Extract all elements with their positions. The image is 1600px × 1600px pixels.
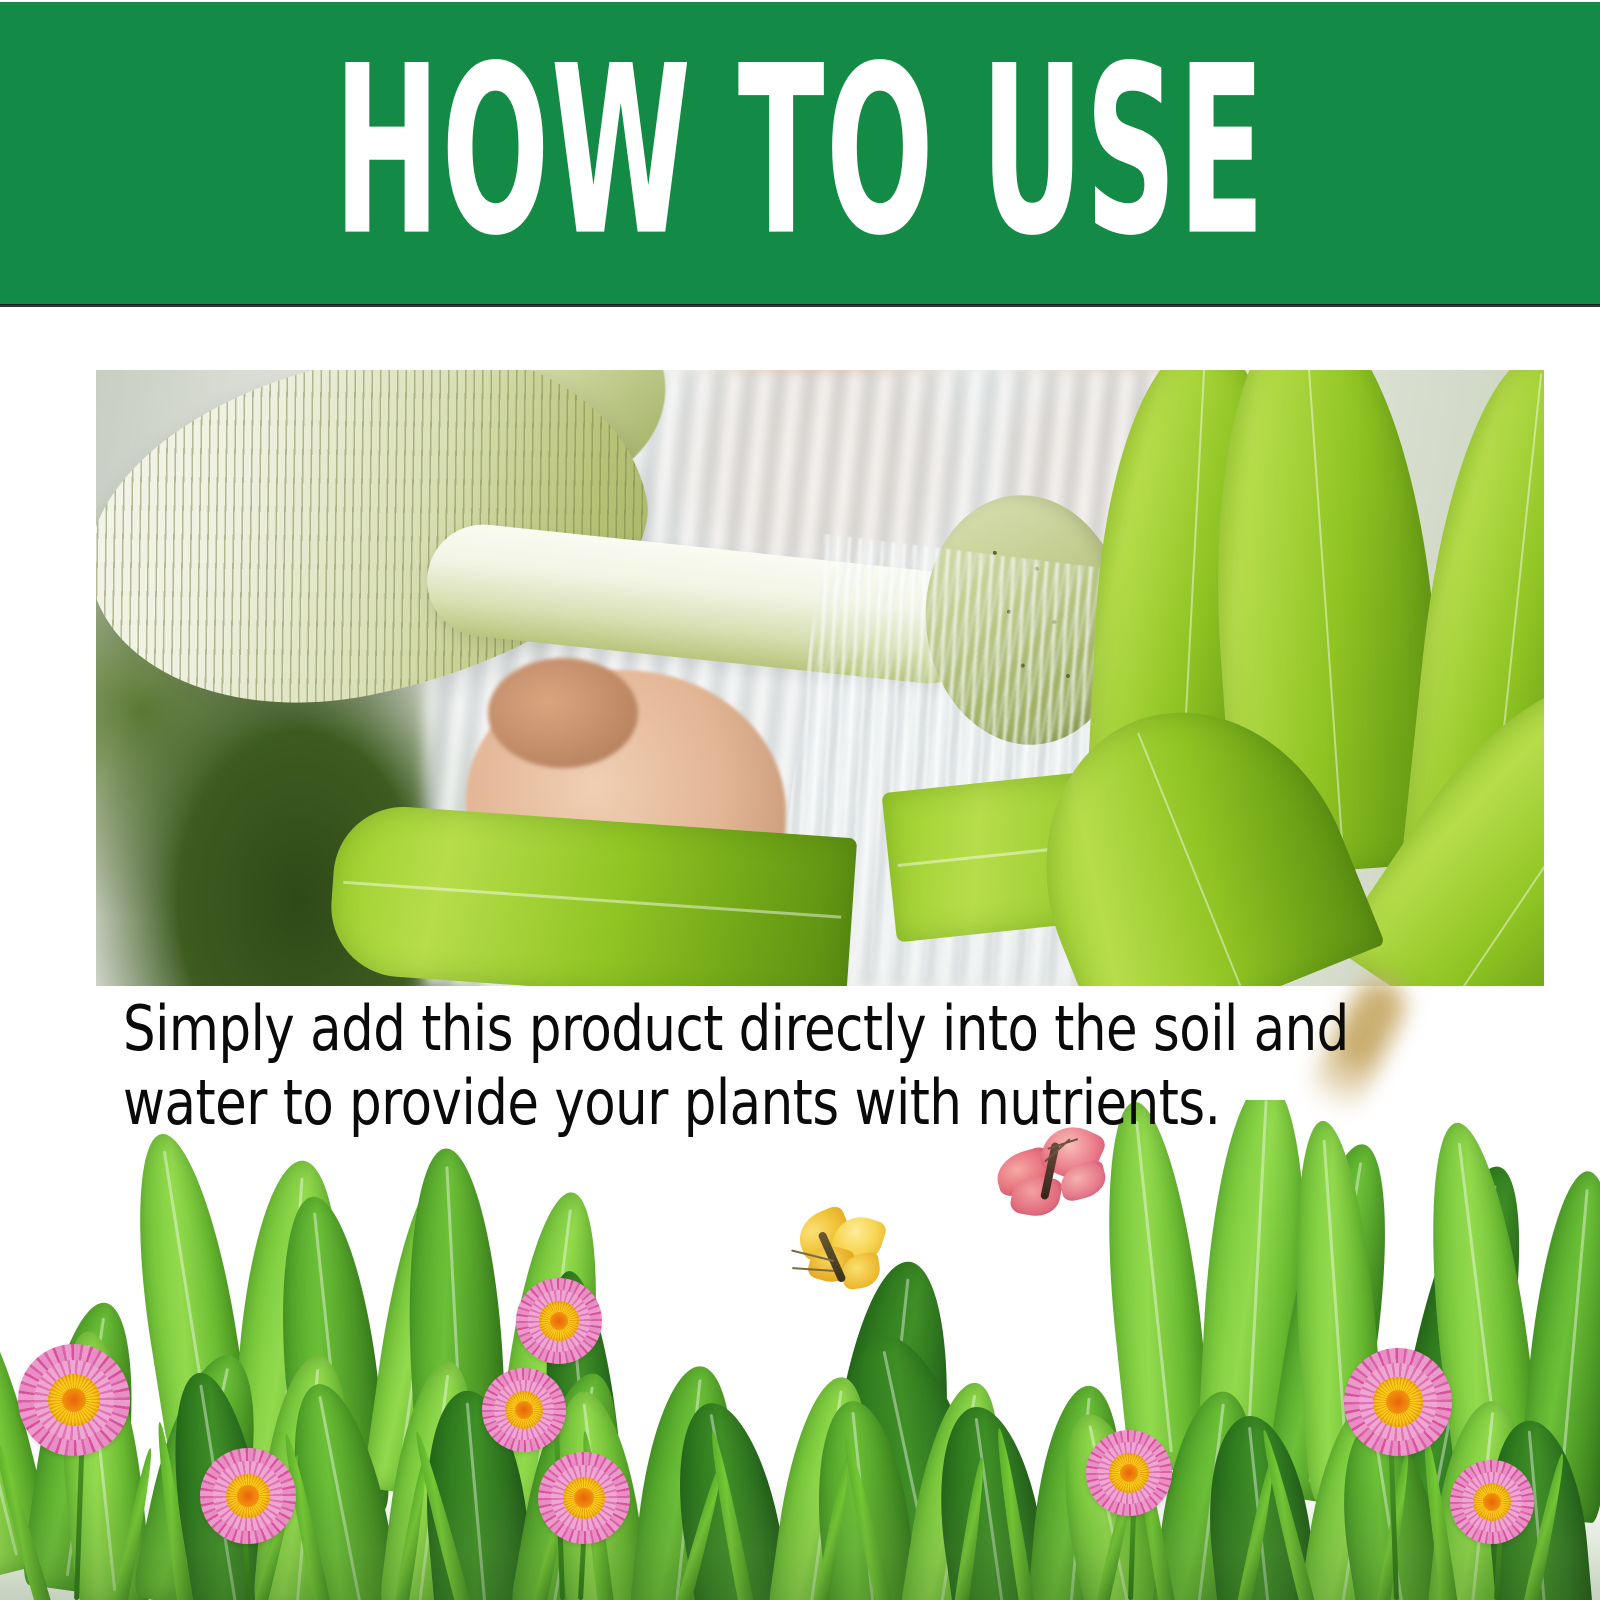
pink-zinnia-flower bbox=[200, 1448, 296, 1544]
pink-zinnia-flower bbox=[482, 1368, 566, 1452]
pink-butterfly-icon bbox=[988, 1124, 1112, 1228]
pink-zinnia-flower bbox=[516, 1278, 602, 1364]
thumb bbox=[488, 658, 638, 768]
yellow-butterfly-icon bbox=[784, 1208, 894, 1300]
page-title: HOW TO USE bbox=[334, 34, 1266, 267]
pink-zinnia-flower bbox=[1344, 1348, 1452, 1456]
pink-zinnia-flower bbox=[1086, 1430, 1172, 1516]
pink-zinnia-flower bbox=[538, 1452, 630, 1544]
header-banner: HOW TO USE bbox=[0, 2, 1600, 305]
instruction-line-1: Simply add this product directly into th… bbox=[123, 992, 1411, 1066]
pink-zinnia-flower bbox=[1450, 1460, 1534, 1544]
instruction-text: Simply add this product directly into th… bbox=[123, 992, 1411, 1140]
watering-can-photo bbox=[96, 370, 1544, 986]
instruction-line-2: water to provide your plants with nutrie… bbox=[123, 1066, 1411, 1140]
header-divider bbox=[0, 304, 1600, 307]
pink-zinnia-flower bbox=[18, 1344, 130, 1456]
foliage-border bbox=[0, 1100, 1600, 1600]
how-to-use-panel: HOW TO USE Simply add this product direc… bbox=[0, 0, 1600, 1600]
